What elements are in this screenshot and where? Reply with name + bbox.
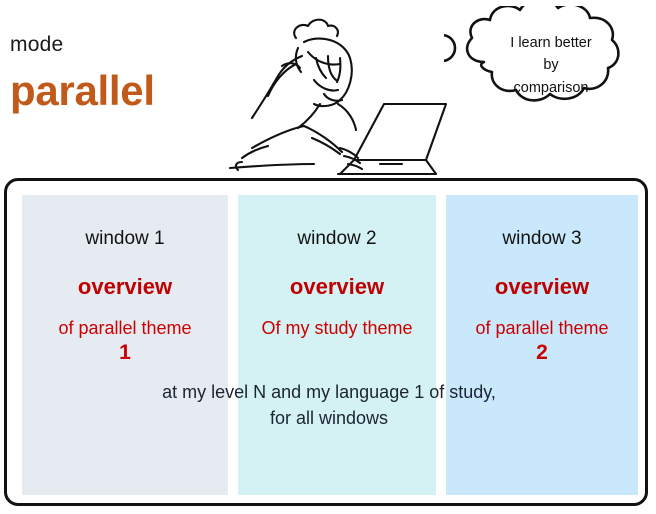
window-2-overview: overview: [238, 276, 436, 298]
window-2-description: Of my study theme: [238, 317, 436, 340]
window-3-overview: overview: [446, 276, 638, 298]
window-panel-2[interactable]: window 2 overview Of my study theme: [238, 195, 436, 495]
window-1-number: 1: [22, 340, 228, 365]
window-1-description: of parallel theme: [22, 317, 228, 340]
windows-container: window 1 overview of parallel theme 1 wi…: [4, 178, 648, 506]
window-panel-3[interactable]: window 3 overview of parallel theme 2: [446, 195, 638, 495]
bubble-dots: [444, 35, 455, 70]
window-1-title: window 1: [22, 229, 228, 248]
thought-bubble-line-1: I learn better: [480, 32, 622, 54]
window-panel-1[interactable]: window 1 overview of parallel theme 1: [22, 195, 228, 495]
window-3-title: window 3: [446, 229, 638, 248]
thought-bubble-text: I learn better by comparison: [480, 32, 622, 99]
thought-bubble: I learn better by comparison: [444, 6, 656, 132]
window-3-number: 2: [446, 340, 638, 365]
thought-bubble-line-2: by: [480, 54, 622, 76]
mode-value: parallel: [10, 70, 155, 112]
window-3-description: of parallel theme: [446, 317, 638, 340]
mode-label: mode: [10, 34, 63, 55]
windows-row: window 1 overview of parallel theme 1 wi…: [7, 181, 645, 503]
header: mode parallel: [0, 0, 656, 178]
window-1-overview: overview: [22, 276, 228, 298]
window-2-title: window 2: [238, 229, 436, 248]
person-at-laptop-illustration: [212, 8, 452, 176]
thought-bubble-line-3: comparison: [480, 77, 622, 99]
